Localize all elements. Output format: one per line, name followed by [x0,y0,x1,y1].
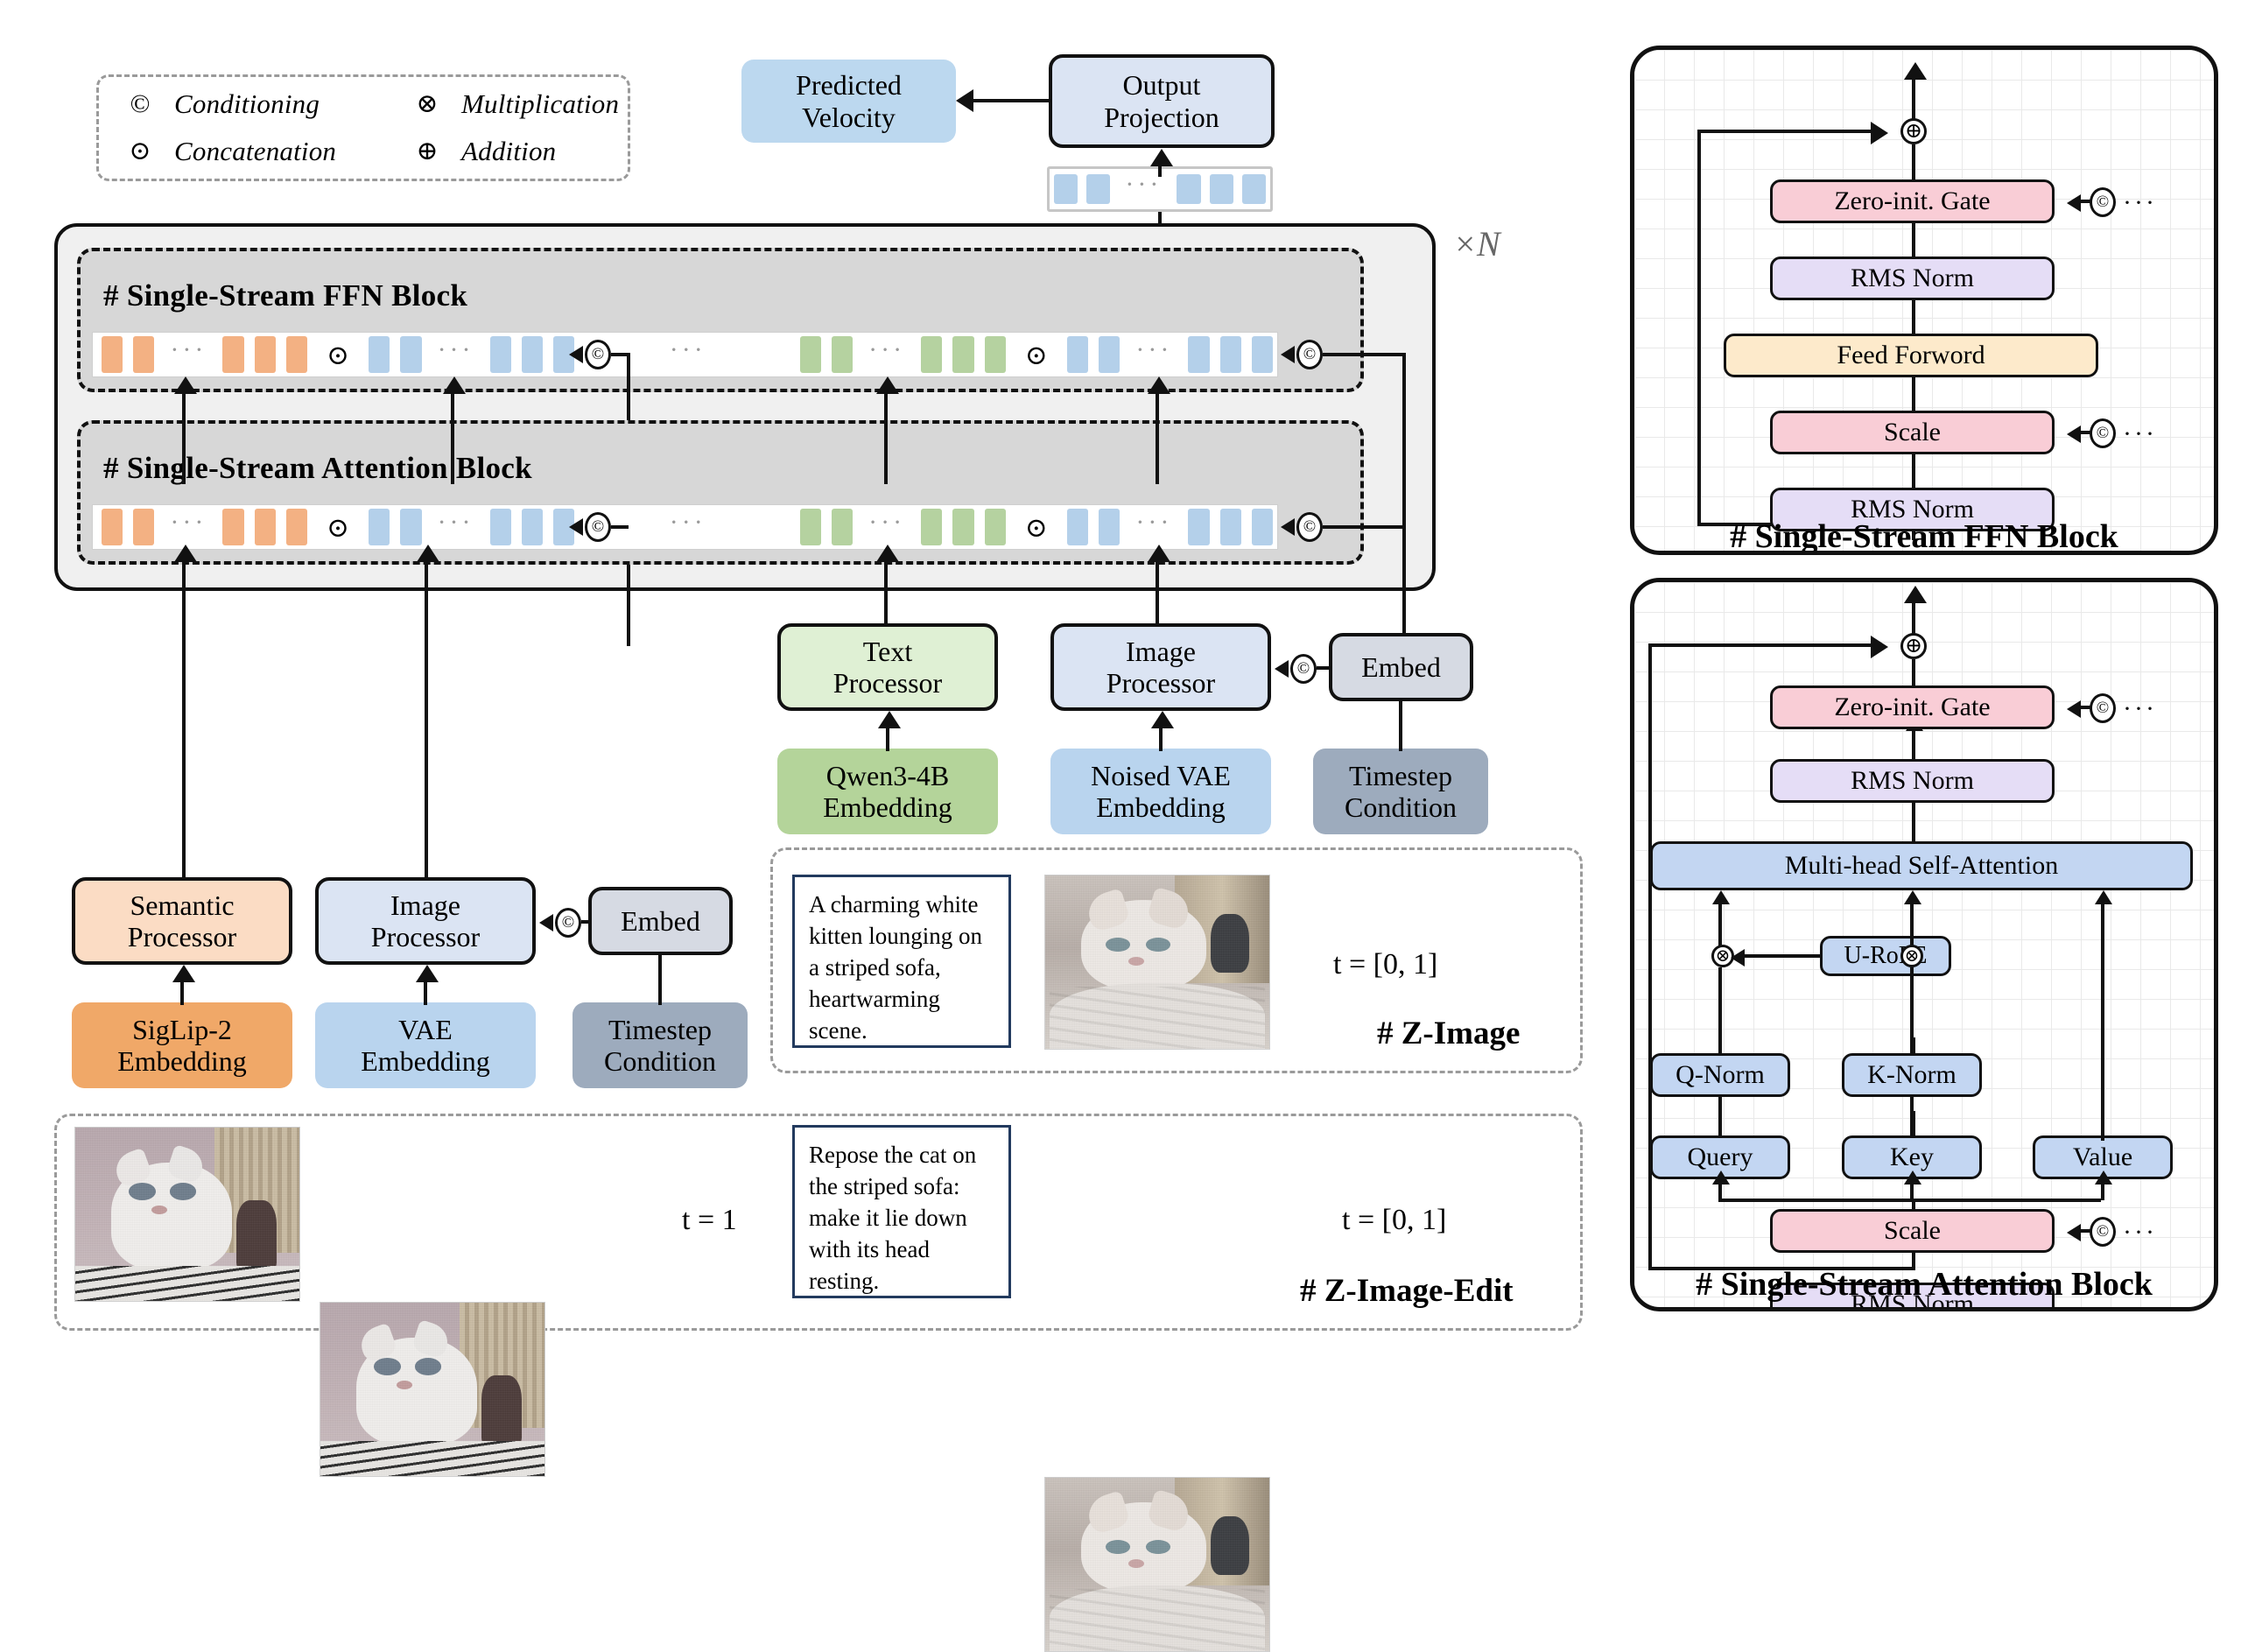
output-token [1086,174,1110,204]
arrow-head-noisedvae-to-imageproc [1151,711,1174,728]
text-processor-line2: Processor [833,667,942,699]
addition-icon: ⊕ [1900,118,1927,144]
strip-ellipsis: ··· [1135,350,1172,359]
token-green [832,336,853,373]
attn-k-norm-box: K-Norm [1842,1053,1982,1097]
arrow-head-embed-to-imageproc-left [539,914,553,931]
line-embed-to-imageproc-left [581,920,592,924]
attn-spine-3 [1912,803,1915,841]
strip-ellipsis: ··· [868,350,905,359]
arrow-head-attn-to-ffn-blue [443,376,466,394]
siglip-line1: SigLip-2 [132,1014,232,1045]
conditioning-icon: © [2090,1217,2116,1247]
z-image-output-photo [1044,875,1270,1050]
line-noisedvae-to-imageproc [1159,727,1163,751]
text-processor-line1: Text [863,636,912,667]
output-projection-line2: Projection [1104,102,1219,133]
ffn-detail-residual-vertical [1697,131,1701,525]
ffn-scale-cond-ellipsis: ··· [2123,421,2157,447]
token-blue [1188,336,1209,373]
strip-ellipsis: ··· [868,523,905,531]
attn-q-norm-box: Q-Norm [1650,1053,1790,1097]
multiplication-icon: ⊗ [1900,945,1923,967]
token-orange [222,336,243,373]
line-siglip-to-semantic [180,981,184,1005]
attn-mhsa-box: Multi-head Self-Attention [1650,841,2193,890]
attn-urope-left-arrow [1731,949,1745,967]
z-image-prompt-note: A charming white kitten lounging on a st… [792,875,1011,1048]
token-blue [1188,509,1209,545]
conditioning-icon: © [2090,187,2116,217]
attn-key-to-knorm [1910,1097,1914,1135]
attn-gate-cond-arrow [2067,700,2081,718]
image-processor-box-left: Image Processor [315,877,536,965]
z-image-edit-source-photo-1 [74,1127,300,1302]
image-processor-line2: Processor [1106,667,1215,699]
attn-residual-arrow [1871,636,1888,658]
legend-box: © Conditioning ⊗ Multiplication ⊙ Concat… [96,74,630,181]
z-image-edit-tag: # Z-Image-Edit [1300,1272,1514,1310]
arrow-head-attn-to-ffn-green [876,376,899,394]
semantic-processor-box: Semantic Processor [72,877,292,965]
token-blue [400,336,421,373]
line-attn-cond-left [611,525,629,529]
line-attn-cond-right [1323,525,1406,529]
line-embed-to-imageproc-mid [1317,666,1331,670]
arrow-head-attn-to-ffn-orange [174,376,197,394]
line-ffn-cond-left [611,353,629,356]
token-orange [222,509,243,545]
arrow-head-vae-to-imageproc [416,965,439,982]
ffn-detail-title: # Single-Stream FFN Block [1634,517,2214,555]
ffn-scale-box: Scale [1770,411,2055,454]
timestep-line1: Timestep [608,1014,712,1045]
ffn-gate-cond-arrow [2067,194,2081,212]
timestep-line2: Condition [1345,791,1457,823]
qwen-embedding-box: Qwen3-4B Embedding [777,749,998,834]
photo-grain-overlay [75,1128,299,1301]
predicted-velocity-box: Predicted Velocity [741,60,956,143]
attn-value-to-mhsa [2101,904,2104,1141]
output-projection-box: Output Projection [1049,54,1275,148]
line-vae-to-imageproc [424,981,427,1005]
token-blue [1067,509,1088,545]
addition-icon: ⊕ [1900,633,1927,659]
legend-label-addition: Addition [461,136,636,167]
attn-mul-to-mhsa-q-arrow [1712,890,1730,904]
strip-ellipsis: ··· [438,523,474,531]
attn-spine-2 [1912,729,1915,759]
attention-block-title: # Single-Stream Attention Block [103,451,532,486]
token-blue [1220,336,1241,373]
attn-rms-norm-upper-box: RMS Norm [1770,759,2055,803]
image-processor-box-mid: Image Processor [1050,623,1271,711]
ffn-detail-panel: ⊕ Zero-init. Gate RMS Norm Feed Forword … [1630,46,2218,555]
timestep-condition-box-left: Timestep Condition [573,1002,748,1088]
arrow-head-ffn-cond-right [1281,346,1295,363]
attn-residual-vertical [1648,645,1652,1269]
noised-vae-line1: Noised VAE [1091,760,1231,791]
attn-query-to-qnorm [1718,1097,1722,1135]
token-orange [286,509,307,545]
token-orange [102,336,123,373]
ffn-detail-residual-arrow [1871,122,1888,144]
attn-mul-to-mhsa-q [1718,904,1722,946]
attn-urope-box: U-RoPE [1820,936,1951,976]
embed-box-mid: Embed [1329,633,1473,701]
z-image-edit-t-source-label: t = 1 [682,1204,737,1237]
conditioning-icon: © [1296,512,1323,542]
strip-ellipsis: ··· [670,350,706,359]
token-orange [133,509,154,545]
attn-qnorm-to-mul [1718,967,1722,1055]
output-token [1054,174,1078,204]
arrow-head-attn-to-ffn-blue2 [1148,376,1170,394]
token-blue [1252,336,1273,373]
token-blue [369,509,390,545]
ffn-feed-forward-box: Feed Forword [1724,334,2098,377]
attention-detail-panel: ⊕ Zero-init. Gate RMS Norm Multi-head Se… [1630,578,2218,1311]
attn-zero-init-gate-box: Zero-init. Gate [1770,685,2055,729]
conditioning-icon: © [1296,340,1323,369]
arrow-head-siglip-to-semantic [172,965,195,982]
z-image-edit-source-photo-2 [320,1302,545,1477]
strip-ellipsis: ··· [438,350,474,359]
embed-label: Embed [621,905,700,937]
token-orange [255,509,276,545]
diagram-canvas: © Conditioning ⊗ Multiplication ⊙ Concat… [0,0,2241,1353]
z-image-edit-t-label: t = [0, 1] [1342,1204,1446,1237]
text-processor-box: Text Processor [777,623,998,711]
attn-scale-cond-arrow [2067,1224,2081,1241]
line-image-to-attn [425,550,428,904]
arrow-head-attn-cond-left [569,518,583,536]
photo-grain-overlay [320,1303,544,1476]
token-green [800,509,821,545]
line-attn-to-ffn-orange [182,392,186,484]
token-green [985,509,1006,545]
qwen-line2: Embedding [823,791,952,823]
vae-line2: Embedding [361,1045,490,1077]
output-token [1210,174,1233,204]
output-token [1177,174,1200,204]
timestep-line1: Timestep [1349,760,1452,791]
output-projection-line1: Output [1123,69,1201,101]
ffn-spine-3 [1912,299,1915,335]
line-attn-to-ffn-blue [451,392,454,484]
siglip-line2: Embedding [117,1045,247,1077]
ffn-detail-residual-top [1697,130,1872,133]
attn-bus-to-query-arrow [1712,1170,1730,1185]
token-green [800,336,821,373]
attn-knorm-to-mul [1910,967,1914,1055]
concatenation-icon: ⊙ [1025,514,1048,541]
arrow-head-projection-to-velocity [956,89,973,112]
strip-ellipsis: ··· [170,523,207,531]
ffn-block-title: # Single-Stream FFN Block [103,278,467,313]
embed-label: Embed [1361,651,1441,683]
conditioning-icon: © [106,91,174,117]
conditioning-icon: © [585,512,611,542]
conditioning-icon: © [585,340,611,369]
token-green [952,509,973,545]
z-image-prompt-text: A charming white kitten lounging on a st… [809,891,982,1044]
conditioning-icon: © [2090,693,2116,723]
conditioning-icon: © [2090,418,2116,448]
strip-ellipsis: ··· [670,523,706,531]
concatenation-icon: ⊙ [106,138,174,165]
output-token-ellipsis: ··· [1125,185,1162,193]
concatenation-icon: ⊙ [327,341,349,369]
z-image-t-label: t = [0, 1] [1333,948,1437,981]
attn-spine-1 [1912,659,1915,685]
conditioning-icon: © [1290,654,1317,684]
concatenation-icon: ⊙ [327,514,349,541]
legend-label-concatenation: Concatenation [174,136,393,167]
ffn-spine-1 [1912,144,1915,181]
qwen-line1: Qwen3-4B [826,760,949,791]
strip-ellipsis: ··· [170,350,207,359]
timestep-condition-box-mid: Timestep Condition [1313,749,1488,834]
ffn-zero-init-gate-box: Zero-init. Gate [1770,179,2055,223]
arrow-head-qwen-to-textproc [878,711,901,728]
z-image-edit-panel: t = 1 Repose the cat on the striped sofa… [54,1114,1583,1331]
z-image-edit-prompt-note: Repose the cat on the striped sofa: make… [792,1125,1011,1298]
arrow-head-ffn-cond-left [569,346,583,363]
predicted-velocity-line1: Predicted [796,69,902,101]
token-green [985,336,1006,373]
token-green [921,509,942,545]
arrow-head-text-to-attn [876,545,899,562]
semantic-processor-line1: Semantic [130,889,234,921]
noised-vae-embedding-box: Noised VAE Embedding [1050,749,1271,834]
arrow-head-outbar-to-projection [1150,149,1173,166]
ffn-rms-norm-upper-box: RMS Norm [1770,257,2055,300]
arrow-head-semantic-to-attn [174,545,197,562]
token-orange [133,336,154,373]
token-blue [522,509,543,545]
attn-bus-to-key [1910,1183,1914,1200]
semantic-processor-line2: Processor [128,921,236,953]
attn-bus-to-value [2101,1183,2104,1200]
ffn-detail-output-arrow [1904,62,1927,80]
z-image-tag: # Z-Image [1377,1015,1520,1052]
attn-mul-to-mhsa-k-arrow [1904,890,1921,904]
token-orange [286,336,307,373]
token-blue [1252,509,1273,545]
token-green [921,336,942,373]
attn-value-to-mhsa-arrow [2095,890,2112,904]
predicted-velocity-line2: Velocity [802,102,896,133]
ffn-scale-cond-arrow [2067,425,2081,443]
arrow-head-embed-to-imageproc-mid [1275,660,1289,678]
photo-grain-overlay [1045,875,1269,1049]
line-ffn-cond-right [1323,353,1406,356]
image-processor-line1: Image [390,889,460,921]
line-attn-to-ffn-blue2 [1156,392,1159,484]
token-blue [490,336,511,373]
concatenation-icon: ⊙ [1025,341,1048,369]
line-outbar-to-projection [1158,165,1162,177]
embed-box-left: Embed [588,887,733,955]
photo-grain-overlay [1045,1478,1269,1651]
siglip-embedding-box: SigLip-2 Embedding [72,1002,292,1088]
z-image-edit-output-photo [1044,1477,1270,1652]
output-token [1242,174,1266,204]
multiplication-icon: ⊗ [393,91,461,117]
attention-token-strip: ··· ⊙ ··· ··· ··· ⊙ ··· [92,504,1278,550]
line-attn-to-ffn-green [884,392,888,484]
attention-detail-title: # Single-Stream Attention Block [1634,1265,2214,1304]
token-blue [490,509,511,545]
timestep-line2: Condition [604,1045,716,1077]
attn-bus-to-key-arrow [1904,1170,1921,1185]
token-green [952,336,973,373]
attn-urope-left-line [1739,954,1820,958]
arrow-head-attn-cond-right [1281,518,1295,536]
token-blue [400,509,421,545]
vae-embedding-box: VAE Embedding [315,1002,536,1088]
image-processor-line2: Processor [371,921,480,953]
line-qwen-to-textproc [886,727,889,751]
attn-bus-to-query [1718,1183,1722,1200]
token-orange [255,336,276,373]
line-embed-to-ffn [1402,353,1406,664]
line-timestep-to-embed-mid [1399,701,1402,751]
line-semantic-to-attn [182,550,186,904]
vae-line1: VAE [398,1014,453,1045]
legend-label-multiplication: Multiplication [461,88,636,120]
attn-mul-to-mhsa-k [1910,904,1914,946]
ffn-spine-4 [1912,376,1915,412]
line-timestep-to-embed-left [658,955,662,1005]
token-blue [1220,509,1241,545]
ffn-detail-output-line [1912,76,1915,124]
attn-bus-to-value-arrow [2095,1170,2112,1185]
z-image-panel: A charming white kitten lounging on a st… [770,847,1583,1073]
token-blue [1099,336,1120,373]
attn-residual-top [1648,643,1872,647]
strip-ellipsis: ··· [1135,523,1172,531]
token-blue [1067,336,1088,373]
attn-scale-cond-ellipsis: ··· [2123,1220,2157,1246]
repeat-count-label: ×N [1453,223,1500,264]
image-processor-line1: Image [1126,636,1196,667]
attn-detail-output-arrow [1904,586,1927,603]
ffn-spine-2 [1912,221,1915,258]
addition-icon: ⊕ [393,138,461,165]
token-blue [1099,509,1120,545]
token-blue [522,336,543,373]
conditioning-icon: © [555,908,581,938]
token-green [832,509,853,545]
arrow-line-projection-to-velocity [972,99,1050,102]
token-blue [369,336,390,373]
arrow-head-image-to-attn [417,545,439,562]
token-orange [102,509,123,545]
ffn-token-strip: ··· ⊙ ··· ··· ··· ⊙ ··· [92,332,1278,377]
legend-label-conditioning: Conditioning [174,88,393,120]
attn-gate-cond-ellipsis: ··· [2123,696,2157,722]
z-image-edit-prompt-text: Repose the cat on the striped sofa: make… [809,1142,976,1294]
arrow-head-imageproc-to-attn [1148,545,1170,562]
attn-scale-box: Scale [1770,1209,2055,1253]
ffn-gate-cond-ellipsis: ··· [2123,190,2157,216]
noised-vae-line2: Embedding [1096,791,1226,823]
